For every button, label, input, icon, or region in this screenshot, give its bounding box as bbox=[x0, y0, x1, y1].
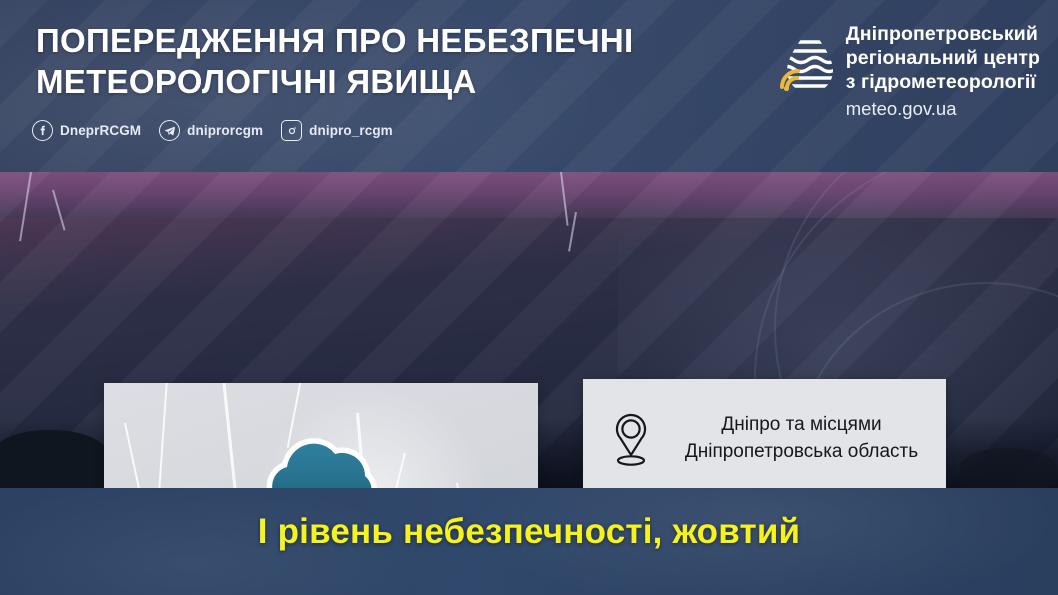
social-link-facebook[interactable]: DneprRCGM bbox=[32, 120, 141, 141]
location-pin-icon bbox=[583, 408, 679, 470]
water-drop-logo-icon bbox=[778, 26, 834, 96]
logo-line-2: регіональний центр bbox=[846, 46, 1040, 70]
danger-level-banner: І рівень небезпечності, жовтий bbox=[0, 488, 1058, 595]
tree-silhouette bbox=[0, 430, 110, 488]
instagram-icon bbox=[281, 120, 302, 141]
organization-website[interactable]: meteo.gov.ua bbox=[846, 96, 1040, 122]
social-handle-facebook: DneprRCGM bbox=[60, 123, 141, 138]
weather-warning-poster: ПОПЕРЕДЖЕННЯ ПРО НЕБЕЗПЕЧНІ МЕТЕОРОЛОГІЧ… bbox=[0, 0, 1058, 595]
page-title-line-2: МЕТЕОРОЛОГІЧНІ ЯВИЩА bbox=[36, 61, 676, 102]
header-bar: ПОПЕРЕДЖЕННЯ ПРО НЕБЕЗПЕЧНІ МЕТЕОРОЛОГІЧ… bbox=[0, 0, 1058, 172]
tree-silhouette bbox=[960, 448, 1056, 488]
logo-line-1: Дніпропетровський bbox=[846, 22, 1040, 46]
location-info-text: Дніпро та місцями Дніпропетровська облас… bbox=[679, 412, 946, 465]
page-title-line-1: ПОПЕРЕДЖЕННЯ ПРО НЕБЕЗПЕЧНІ bbox=[36, 22, 633, 59]
thunderstorm-cloud-icon bbox=[245, 427, 397, 488]
telegram-icon bbox=[159, 120, 180, 141]
organization-name: Дніпропетровський регіональний центр з г… bbox=[846, 22, 1040, 122]
page-title: ПОПЕРЕДЖЕННЯ ПРО НЕБЕЗПЕЧНІ МЕТЕОРОЛОГІЧ… bbox=[36, 20, 676, 102]
social-link-instagram[interactable]: dnipro_rcgm bbox=[281, 120, 393, 141]
storm-scene-background: Гроза Дніпро та місцями Дніпропетровська… bbox=[0, 172, 1058, 488]
social-link-telegram[interactable]: dniprorcgm bbox=[159, 120, 263, 141]
hazard-illustration-card: Гроза bbox=[104, 383, 538, 488]
danger-level-text: І рівень небезпечності, жовтий bbox=[0, 512, 1058, 552]
logo-line-3: з гідрометеорології bbox=[846, 70, 1040, 94]
social-links: DneprRCGM dniprorcgm dnipro_rcgm bbox=[32, 120, 393, 141]
social-handle-instagram: dnipro_rcgm bbox=[309, 123, 393, 138]
organization-logo[interactable]: Дніпропетровський регіональний центр з г… bbox=[778, 22, 1040, 122]
facebook-icon bbox=[32, 120, 53, 141]
social-handle-telegram: dniprorcgm bbox=[187, 123, 263, 138]
location-info-panel: Дніпро та місцями Дніпропетровська облас… bbox=[583, 379, 946, 488]
